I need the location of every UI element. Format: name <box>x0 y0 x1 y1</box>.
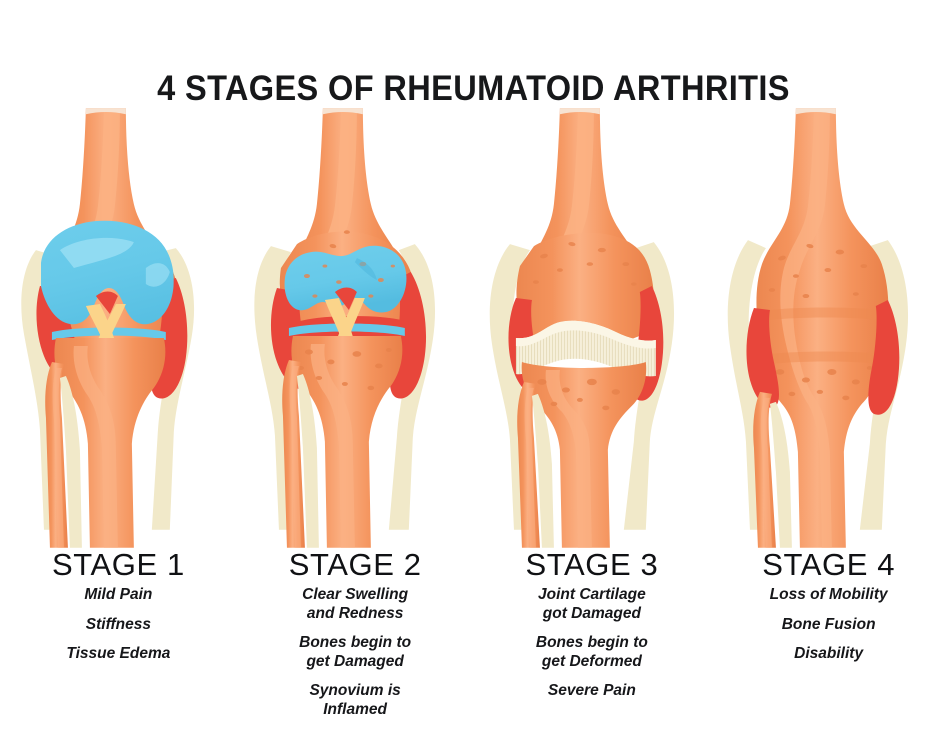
stage-heading-4: STAGE 4 <box>710 548 947 582</box>
symptom-item: Bones begin to get Deformed <box>474 634 711 671</box>
symptom-item: Bone Fusion <box>710 616 947 635</box>
symptom-item: Severe Pain <box>474 682 711 701</box>
stage-heading-3: STAGE 3 <box>474 548 711 582</box>
stage-heading-1: STAGE 1 <box>0 548 237 582</box>
knee-joint-stage-2-illustration <box>237 100 474 548</box>
symptom-item: Mild Pain <box>0 586 237 605</box>
stage-caption-2: STAGE 2 Clear Swelling and Redness Bones… <box>237 548 474 719</box>
stage-heading-2: STAGE 2 <box>237 548 474 582</box>
stage-caption-3: STAGE 3 Joint Cartilage got Damaged Bone… <box>474 548 711 701</box>
symptom-item: Clear Swelling and Redness <box>237 586 474 623</box>
symptom-list-3: Joint Cartilage got Damaged Bones begin … <box>474 586 711 701</box>
stage-column-1: STAGE 1 Mild Pain Stiffness Tissue Edema <box>0 100 237 737</box>
stage-column-3: STAGE 3 Joint Cartilage got Damaged Bone… <box>474 100 711 737</box>
symptom-item: Bones begin to get Damaged <box>237 634 474 671</box>
knee-joint-stage-1-illustration <box>0 100 237 548</box>
stage-caption-4: STAGE 4 Loss of Mobility Bone Fusion Dis… <box>710 548 947 664</box>
knee-joint-stage-3-illustration <box>474 100 711 548</box>
stage-column-4: STAGE 4 Loss of Mobility Bone Fusion Dis… <box>710 100 947 737</box>
symptom-list-2: Clear Swelling and Redness Bones begin t… <box>237 586 474 719</box>
symptom-item: Joint Cartilage got Damaged <box>474 586 711 623</box>
symptom-list-4: Loss of Mobility Bone Fusion Disability <box>710 586 947 664</box>
stages-row: STAGE 1 Mild Pain Stiffness Tissue Edema <box>0 100 947 737</box>
knee-joint-stage-4-illustration <box>710 100 947 548</box>
infographic-root: 4 STAGES OF RHEUMATOID ARTHRITIS <box>0 0 947 737</box>
symptom-item: Synovium is Inflamed <box>237 682 474 719</box>
symptom-item: Stiffness <box>0 616 237 635</box>
symptom-item: Tissue Edema <box>0 645 237 664</box>
symptom-list-1: Mild Pain Stiffness Tissue Edema <box>0 586 237 664</box>
stage-column-2: STAGE 2 Clear Swelling and Redness Bones… <box>237 100 474 737</box>
symptom-item: Loss of Mobility <box>710 586 947 605</box>
stage-caption-1: STAGE 1 Mild Pain Stiffness Tissue Edema <box>0 548 237 664</box>
symptom-item: Disability <box>710 645 947 664</box>
